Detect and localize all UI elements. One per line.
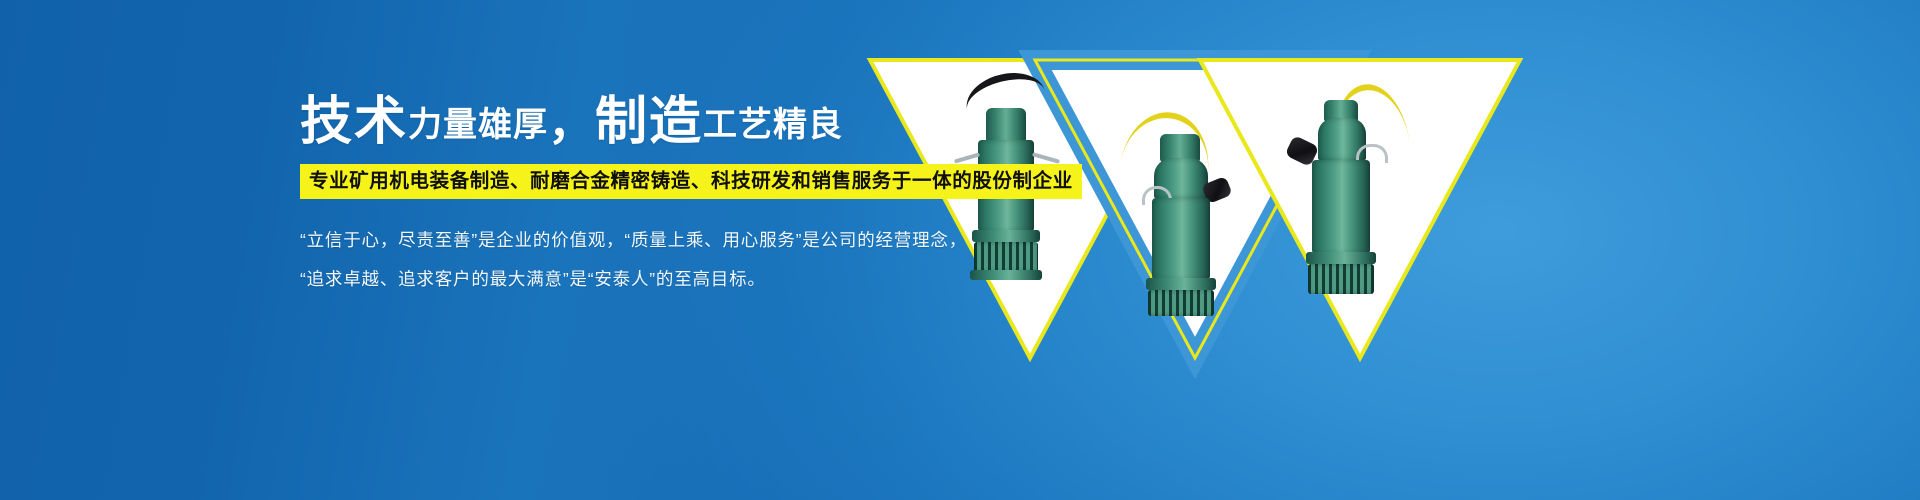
highlight-tagline: 专业矿用机电装备制造、耐磨合金精密铸造、科技研发和销售服务于一体的股份制企业 bbox=[300, 164, 1082, 199]
body-line-2: “追求卓越、追求客户的最大满意”是“安泰人”的至高目标。 bbox=[300, 262, 920, 296]
pump-body bbox=[1312, 160, 1370, 254]
pump-cap bbox=[986, 108, 1026, 142]
product-graphic bbox=[860, 0, 1920, 500]
headline-segment-4: 工艺精良 bbox=[703, 106, 843, 144]
headline-comma: ， bbox=[548, 97, 595, 149]
pump-base bbox=[970, 270, 1042, 280]
text-block: 技术力量雄厚，制造工艺精良 专业矿用机电装备制造、耐磨合金精密铸造、科技研发和销… bbox=[300, 96, 920, 296]
pump-strainer bbox=[1308, 264, 1374, 294]
headline-segment-2: 力量雄厚 bbox=[408, 106, 548, 144]
pump-lug-left bbox=[954, 152, 980, 163]
pump-flange bbox=[972, 230, 1040, 242]
pump-body bbox=[1152, 198, 1210, 280]
headline-segment-1: 技术 bbox=[300, 93, 408, 151]
pump-lug-right bbox=[1032, 152, 1060, 164]
body-line-1: “立信于心，尽责至善”是企业的价值观，“质量上乘、用心服务”是公司的经营理念， bbox=[300, 223, 920, 257]
pump-flange bbox=[1306, 252, 1376, 264]
pump-flange bbox=[1146, 278, 1216, 290]
promo-banner: 技术力量雄厚，制造工艺精良 专业矿用机电装备制造、耐磨合金精密铸造、科技研发和销… bbox=[0, 0, 1920, 500]
pump-strainer bbox=[1148, 290, 1214, 316]
pump-strainer bbox=[974, 242, 1038, 272]
product-image-pump-2 bbox=[1112, 108, 1262, 318]
headline-segment-3: 制造 bbox=[595, 93, 703, 151]
page-title: 技术力量雄厚，制造工艺精良 bbox=[300, 96, 920, 148]
product-image-pump-3 bbox=[1278, 78, 1428, 293]
